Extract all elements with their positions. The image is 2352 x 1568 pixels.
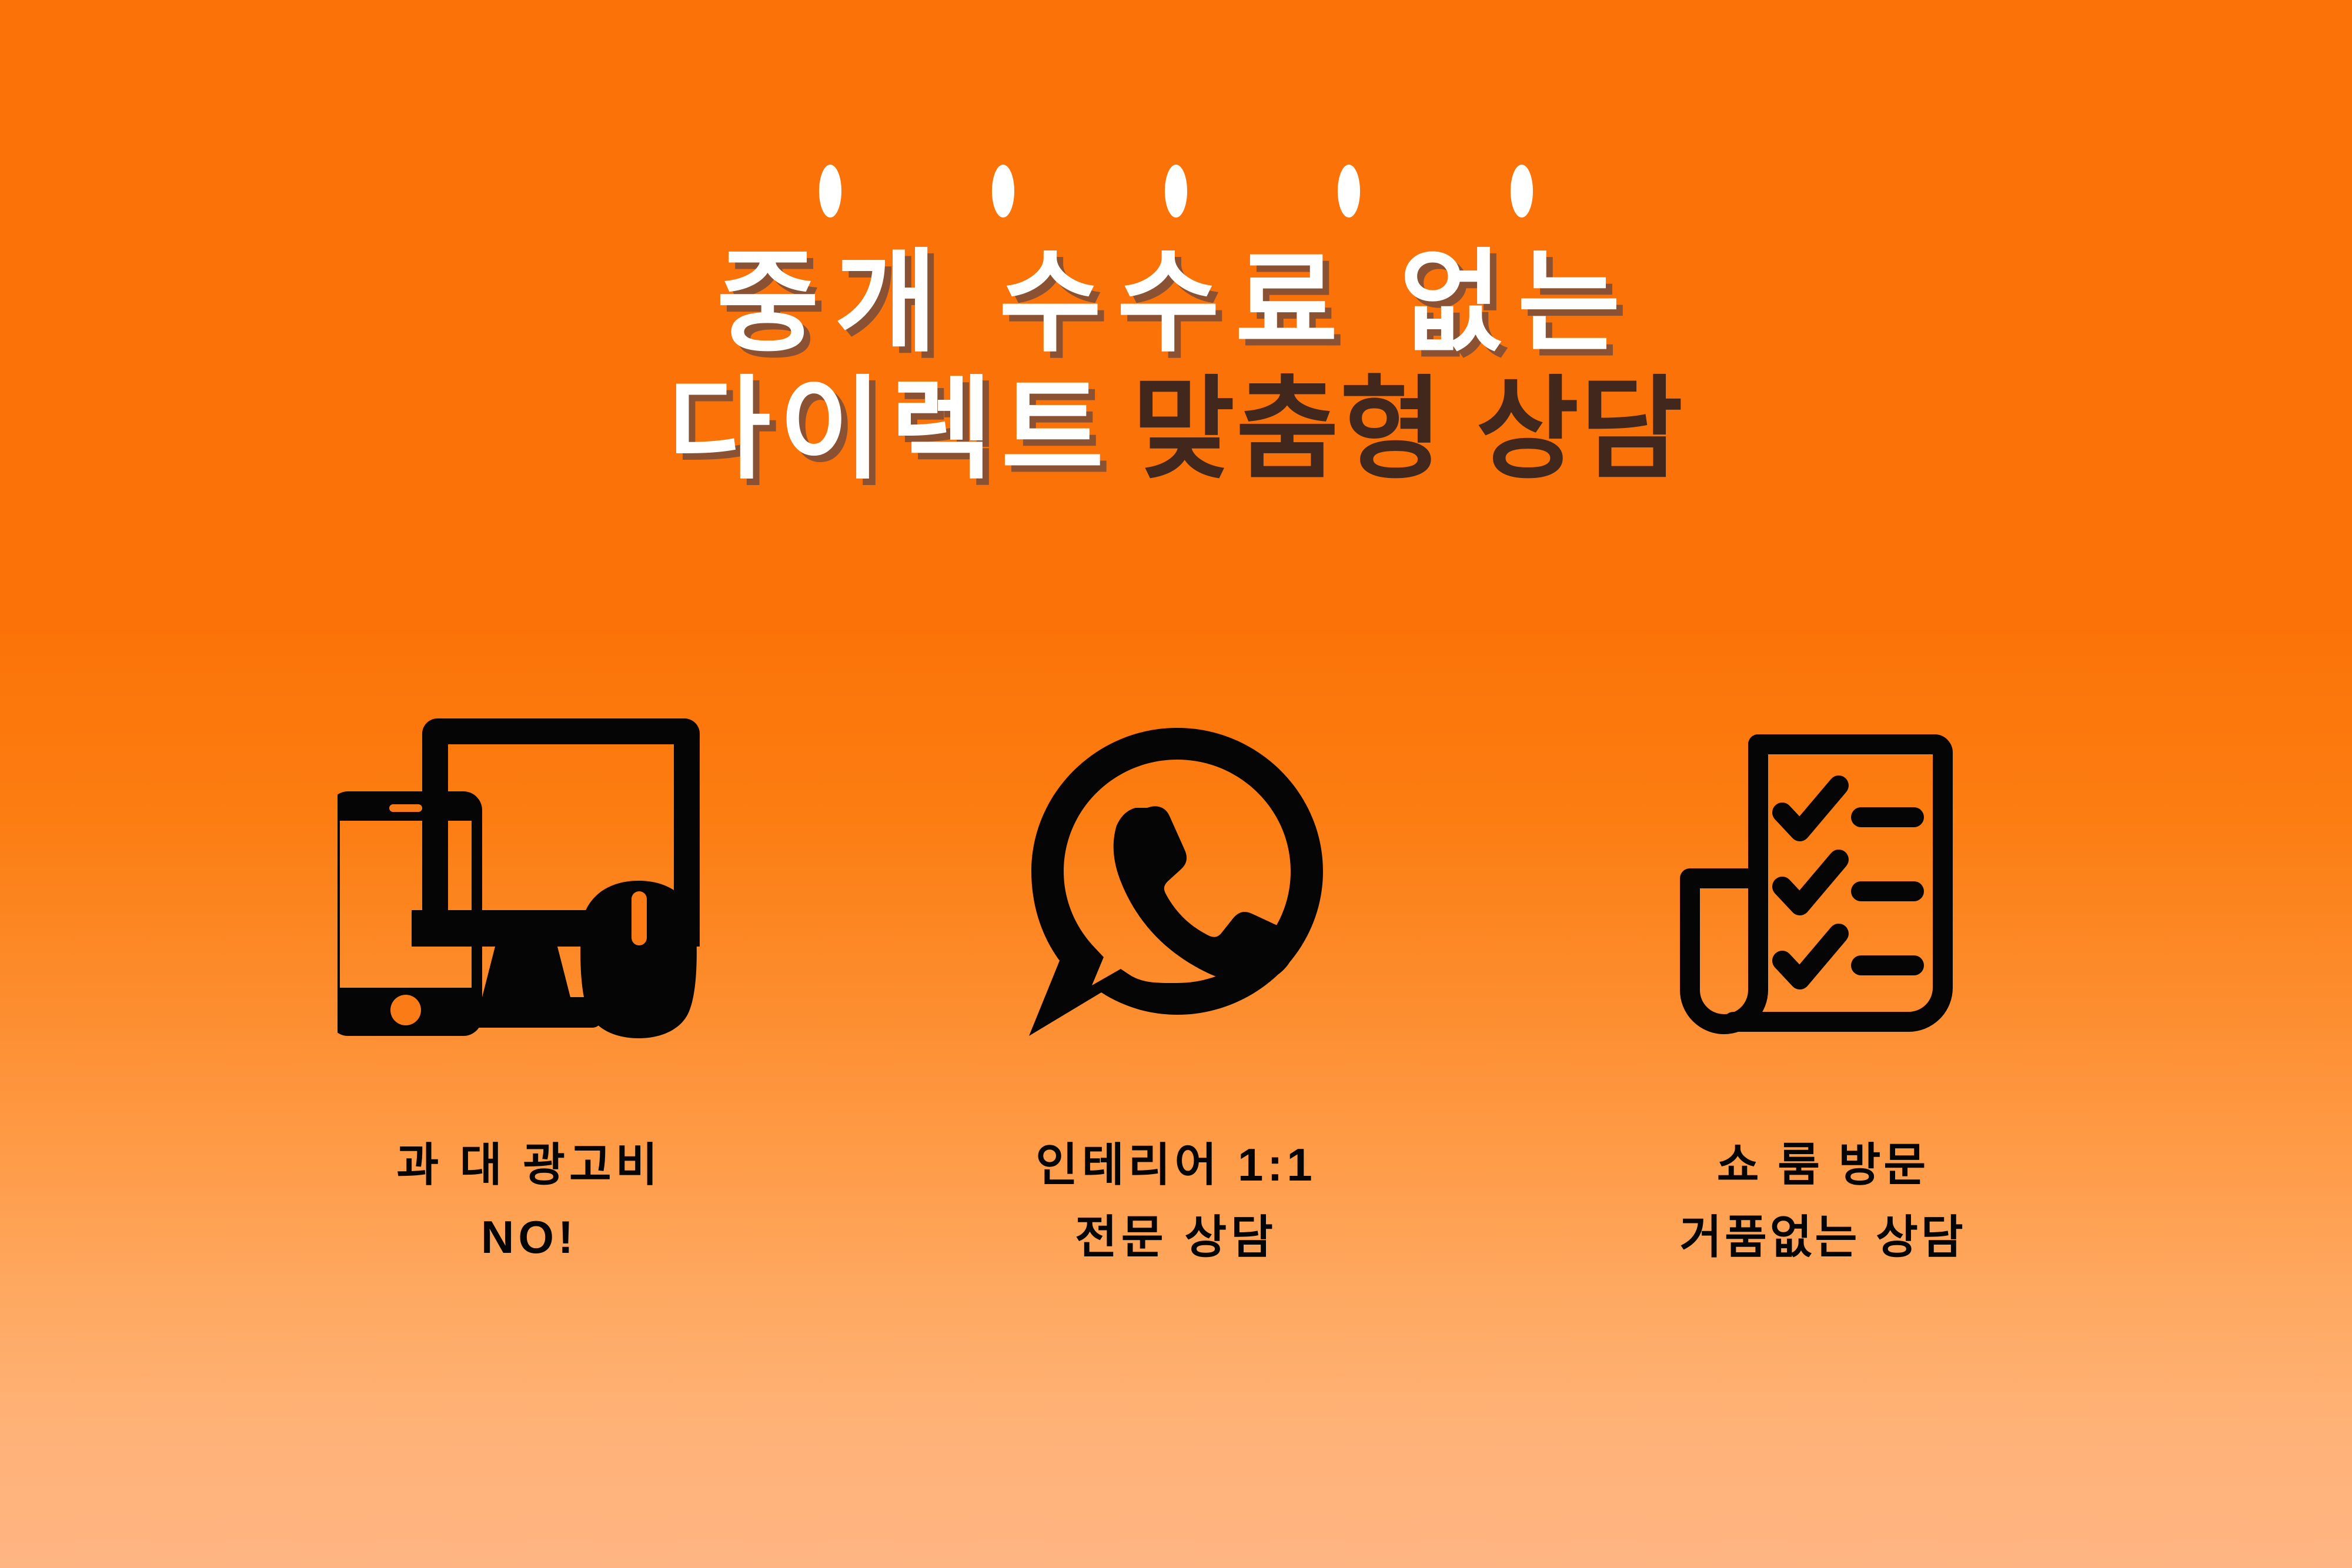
headline-block: 중개 수수료 없는 다이렉트맞춤형 상담 — [0, 153, 2352, 486]
feature-row: 과 대 광고비 NO! 인테리어 1:1 전문 상담 — [0, 700, 2352, 1273]
headline-line-2-white: 다이렉트 — [668, 367, 1112, 492]
feature-caption-1-line-2: NO! — [396, 1201, 661, 1273]
promo-banner: 중개 수수료 없는 다이렉트맞춤형 상담 — [0, 0, 2352, 1568]
feature-caption-1-line-1: 과 대 광고비 — [396, 1129, 661, 1201]
checklist-icon — [1667, 723, 1979, 1041]
headline-line-1: 중개 수수료 없는 — [0, 247, 2352, 359]
headline-dot-2 — [992, 165, 1014, 218]
devices-icon — [338, 711, 702, 1052]
feature-item-3: 쇼 룸 방문 거품없는 상담 — [1499, 700, 2146, 1273]
feature-caption-3-line-1: 쇼 룸 방문 — [1679, 1129, 1966, 1201]
feature-icon-wrap-2 — [1023, 700, 1329, 1064]
feature-caption-2-line-1: 인테리어 1:1 — [1035, 1129, 1316, 1201]
feature-icon-wrap-3 — [1667, 700, 1979, 1064]
feature-caption-2-line-2: 전문 상담 — [1035, 1201, 1316, 1273]
headline-line-2-dark: 맞춤형 상담 — [1132, 367, 1684, 492]
headline-line-2: 다이렉트맞춤형 상담 — [0, 374, 2352, 486]
feature-caption-2: 인테리어 1:1 전문 상담 — [1035, 1129, 1316, 1273]
feature-icon-wrap-1 — [338, 700, 702, 1064]
feature-item-2: 인테리어 1:1 전문 상담 — [853, 700, 1499, 1273]
feature-item-1: 과 대 광고비 NO! — [206, 700, 853, 1273]
feature-caption-3: 쇼 룸 방문 거품없는 상담 — [1679, 1129, 1966, 1273]
feature-caption-3-line-2: 거품없는 상담 — [1679, 1201, 1966, 1273]
whatsapp-icon — [1023, 723, 1329, 1041]
feature-caption-1: 과 대 광고비 NO! — [396, 1129, 661, 1273]
headline-dot-row — [0, 153, 2352, 229]
headline-dot-1 — [819, 165, 841, 218]
headline-dot-3 — [1165, 165, 1187, 218]
headline-dot-5 — [1511, 165, 1533, 218]
headline-dot-4 — [1338, 165, 1360, 218]
